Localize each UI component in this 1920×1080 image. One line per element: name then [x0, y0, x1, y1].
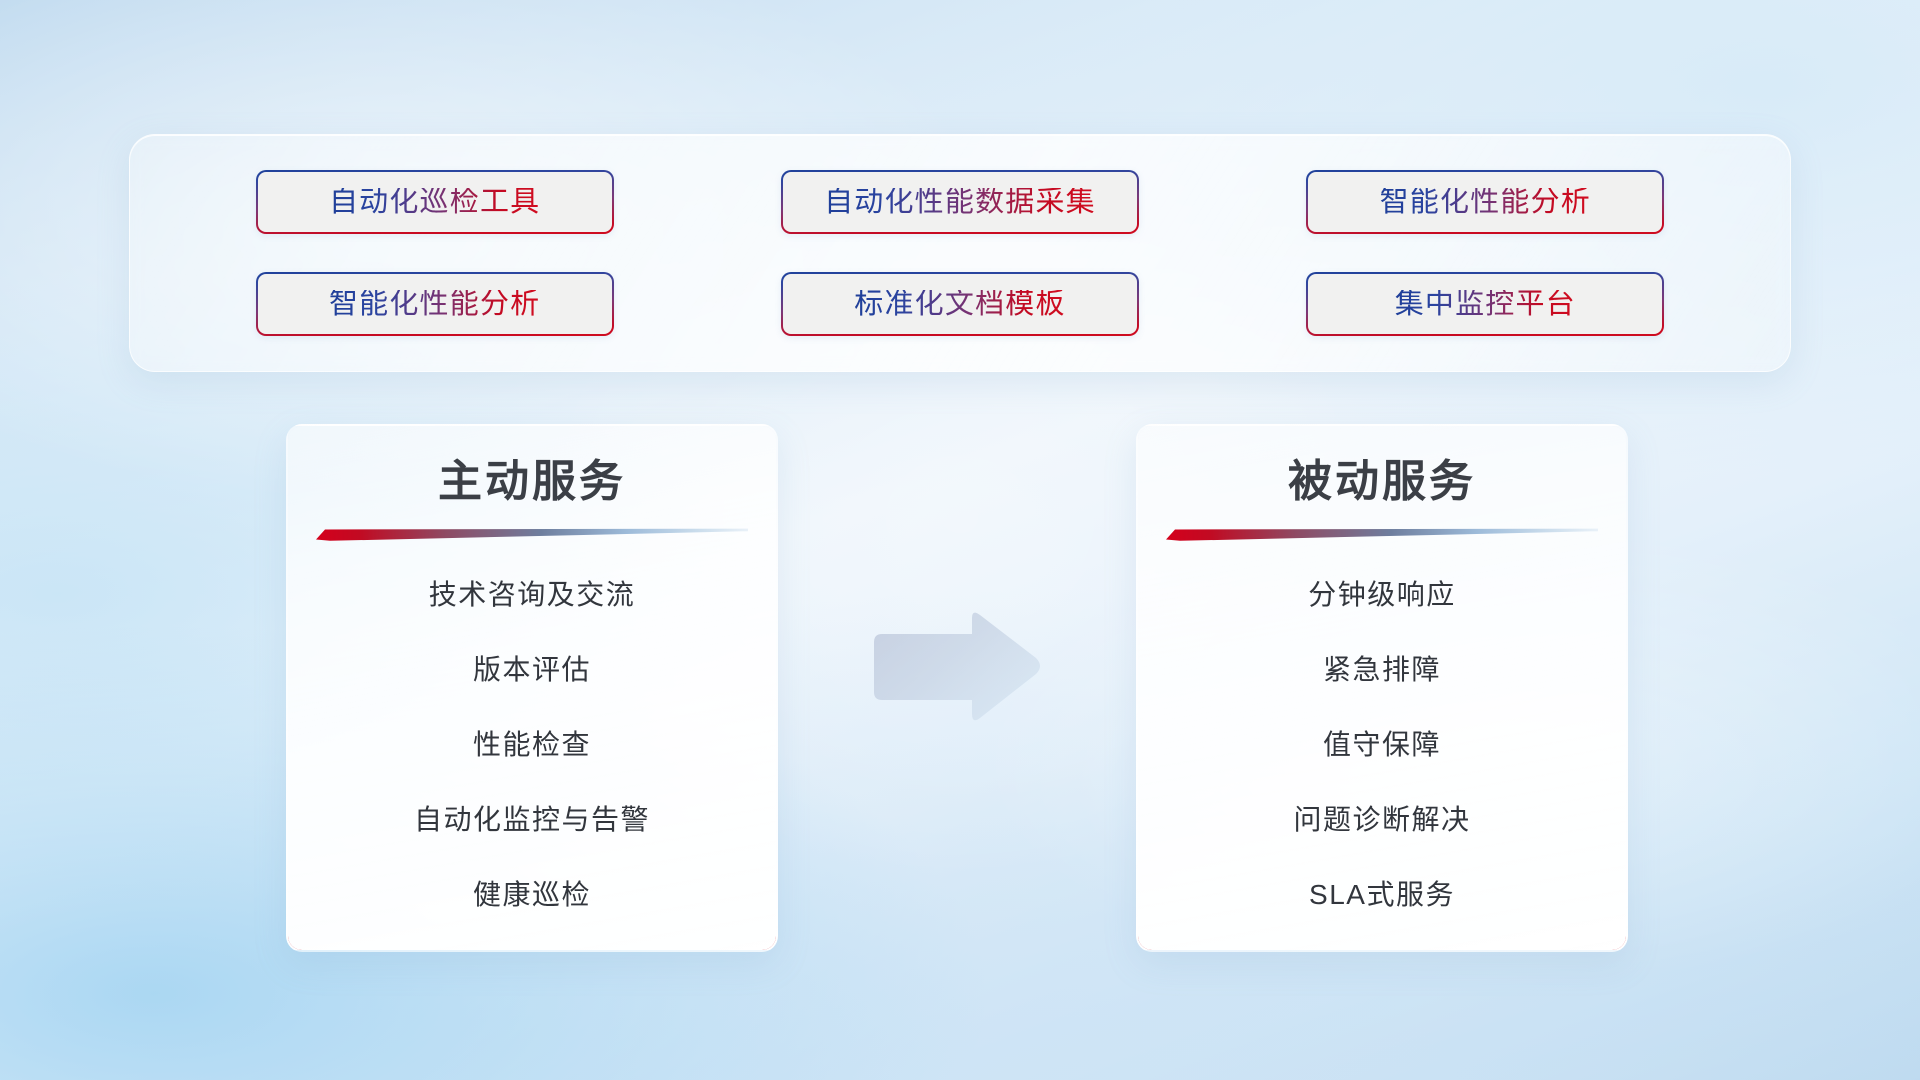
- capability-pill-label: 智能化性能分析: [329, 290, 540, 319]
- capability-pill-label: 自动化巡检工具: [329, 188, 540, 217]
- capability-pill-5[interactable]: 标准化文档模板: [781, 272, 1139, 336]
- capabilities-panel: 自动化巡检工具 自动化性能数据采集 智能化性能分析 智能化性能分析 标准化文档模…: [129, 134, 1791, 372]
- capabilities-grid: 自动化巡检工具 自动化性能数据采集 智能化性能分析 智能化性能分析 标准化文档模…: [130, 135, 1790, 371]
- capability-pill-2[interactable]: 自动化性能数据采集: [781, 170, 1139, 234]
- service-item: 分钟级响应: [1308, 567, 1456, 623]
- service-item: 自动化监控与告警: [414, 792, 650, 848]
- service-item: 版本评估: [473, 642, 591, 698]
- service-item: 紧急排障: [1323, 642, 1441, 698]
- active-service-card: 主动服务 技术咨询及交流 版本评估: [286, 424, 778, 952]
- service-item: 技术咨询及交流: [429, 567, 636, 623]
- service-item: 健康巡检: [473, 867, 591, 923]
- passive-service-card: 被动服务 分钟级响应 紧急排障: [1136, 424, 1628, 952]
- service-item: 值守保障: [1323, 717, 1441, 773]
- capability-pill-4[interactable]: 智能化性能分析: [256, 272, 614, 336]
- service-item: SLA式服务: [1309, 867, 1455, 923]
- active-title-divider: [316, 528, 748, 541]
- capability-pill-label: 标准化文档模板: [854, 290, 1065, 319]
- active-service-list: 技术咨询及交流 版本评估 性能检查 自动化监控与告警 健康巡检: [288, 567, 776, 950]
- capability-pill-3[interactable]: 智能化性能分析: [1306, 170, 1664, 234]
- capability-pill-label: 智能化性能分析: [1380, 188, 1591, 217]
- active-service-title: 主动服务: [288, 458, 776, 506]
- service-item: 性能检查: [473, 717, 591, 773]
- passive-service-title: 被动服务: [1138, 458, 1626, 506]
- capability-pill-1[interactable]: 自动化巡检工具: [256, 170, 614, 234]
- passive-service-list: 分钟级响应 紧急排障 值守保障 问题诊断解决 SLA式服务: [1138, 567, 1626, 950]
- flow-arrow-right-icon: [868, 608, 1044, 728]
- capability-pill-6[interactable]: 集中监控平台: [1306, 272, 1664, 336]
- capability-pill-label: 自动化性能数据采集: [824, 188, 1096, 217]
- service-item: 问题诊断解决: [1293, 792, 1470, 848]
- passive-title-divider: [1166, 528, 1598, 541]
- capability-pill-label: 集中监控平台: [1395, 290, 1576, 319]
